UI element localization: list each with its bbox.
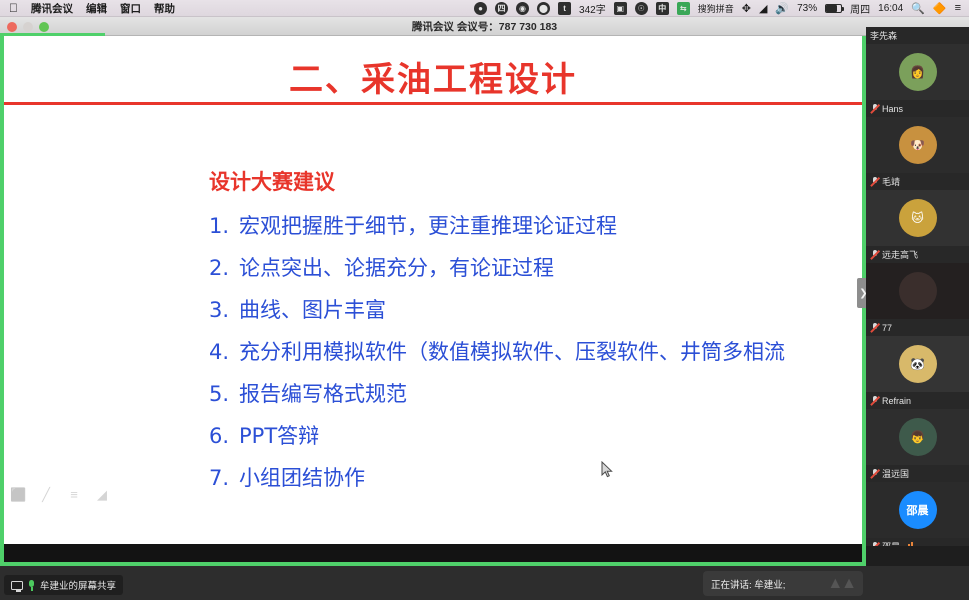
participant-video-tile[interactable]: 🐱 — [866, 190, 969, 246]
participant-name-row: 远走高飞 — [866, 246, 969, 263]
shield-icon[interactable]: ⬤ — [537, 2, 550, 15]
avatar: 🐼 — [899, 345, 937, 383]
siri-icon[interactable]: 🔶 — [933, 2, 947, 15]
avatar — [899, 272, 937, 310]
evernote-icon[interactable]: t — [558, 2, 571, 15]
pointer-tool-icon[interactable]: ⬛ — [10, 488, 26, 502]
participant-name-row: Refrain — [866, 392, 969, 409]
sogou-logo-icon[interactable]: ⇆ — [677, 2, 690, 15]
ime-label: 搜狗拼音 — [698, 2, 734, 15]
audio-waveform-icon: ▲▲ — [827, 575, 855, 593]
list-item[interactable]: 77 🐼 — [866, 319, 969, 392]
slide-bullet-3: 3.曲线、图片丰富 — [209, 294, 862, 324]
bullet-number: 7. — [209, 466, 239, 490]
share-label: 牟建业的屏幕共享 — [40, 578, 116, 592]
participant-video-tile[interactable]: 👩 — [866, 44, 969, 100]
participant-name-row: 77 — [866, 319, 969, 336]
window-title: 腾讯会议 会议号：787 730 183 — [412, 19, 557, 34]
mic-muted-icon — [870, 541, 879, 546]
slide-bullet-5: 5.报告编写格式规范 — [209, 378, 862, 408]
slide-bullet-4: 4.充分利用模拟软件（数值模拟软件、压裂软件、井筒多相流 — [209, 336, 862, 366]
wifi-icon[interactable]: ◢ — [759, 2, 767, 15]
battery-percent-label: 73% — [797, 3, 817, 14]
avatar: 邵晨 — [899, 491, 937, 529]
participant-name: 李先森 — [870, 29, 897, 42]
screen-share-status[interactable]: 牟建业的屏幕共享 — [4, 575, 123, 595]
slide-bullet-2: 2.论点突出、论据充分，有论证过程 — [209, 252, 862, 282]
mic-muted-icon — [870, 322, 879, 333]
close-button[interactable] — [7, 22, 17, 32]
bullet-text: 报告编写格式规范 — [239, 382, 407, 406]
bullet-text: 宏观把握胜于细节，更注重推理论证过程 — [239, 214, 617, 238]
bluetooth-icon[interactable]: ✥ — [742, 2, 751, 15]
list-item[interactable]: Hans 🐶 — [866, 100, 969, 173]
mic-muted-icon — [870, 176, 879, 187]
list-item[interactable]: 邵晨 S — [866, 538, 969, 546]
participant-name: 邵晨 — [882, 540, 900, 546]
mouse-pointer-icon — [601, 461, 613, 479]
maximize-button[interactable] — [39, 22, 49, 32]
minimize-button[interactable] — [23, 22, 33, 32]
bullet-text: PPT答辩 — [239, 424, 319, 448]
mic-muted-icon — [870, 395, 879, 406]
avatar: 👩 — [899, 53, 937, 91]
participant-name: 温远国 — [882, 467, 909, 480]
window-title-bar: 腾讯会议 会议号：787 730 183 — [0, 17, 969, 36]
screenshot-icon[interactable]: ▣ — [614, 2, 627, 15]
bullet-text: 曲线、图片丰富 — [239, 298, 386, 322]
participant-name: 77 — [882, 323, 892, 333]
participant-video-tile[interactable]: 👦 — [866, 409, 969, 465]
slide-title-divider — [4, 102, 862, 105]
participant-name: 毛靖 — [882, 175, 900, 188]
list-item[interactable]: 温远国 邵晨 — [866, 465, 969, 538]
slide-bullet-6: 6.PPT答辩 — [209, 420, 862, 450]
chinese-ime-icon[interactable]: 中 — [656, 2, 669, 15]
bottom-toolbar: 牟建业的屏幕共享 正在讲话: 牟建业; ▲▲ — [0, 566, 969, 600]
mic-muted-icon — [870, 249, 879, 260]
slide-subhead: 设计大赛建议 — [209, 166, 862, 196]
notification-center-icon[interactable]: ≡ — [955, 2, 961, 14]
participant-video-tile[interactable]: 🐶 — [866, 117, 969, 173]
menu-item-edit[interactable]: 编辑 — [86, 1, 107, 16]
participant-video-tile[interactable]: 🐼 — [866, 336, 969, 392]
speaking-label: 正在讲话: 牟建业; — [711, 577, 785, 591]
bullet-number: 3. — [209, 298, 239, 322]
annotation-toolbar[interactable]: ⬛ ╱ ≡ ◢ — [10, 488, 110, 502]
participant-video-tile[interactable]: 邵晨 — [866, 482, 969, 538]
mic-muted-icon — [870, 468, 879, 479]
participant-name-row: 温远国 — [866, 465, 969, 482]
avatar: 🐶 — [899, 126, 937, 164]
volume-icon[interactable]: 🔊 — [775, 2, 789, 15]
bullet-text: 论点突出、论据充分，有论证过程 — [239, 256, 554, 280]
battery-icon[interactable] — [825, 4, 842, 13]
menu-date-label: 周四 — [850, 1, 870, 16]
participant-name-row: 毛靖 — [866, 173, 969, 190]
menu-time-label: 16:04 — [878, 3, 903, 14]
list-item[interactable]: Refrain 👦 — [866, 392, 969, 465]
bullet-text: 小组团结协作 — [239, 466, 365, 490]
slide-bullet-1: 1.宏观把握胜于细节，更注重推理论证过程 — [209, 210, 862, 240]
participant-name-row: Hans — [866, 100, 969, 117]
active-speaker-banner: 正在讲话: 牟建业; ▲▲ — [703, 571, 863, 596]
list-item[interactable]: 毛靖 🐱 — [866, 173, 969, 246]
audio-level-icon — [905, 542, 913, 546]
calendar-icon[interactable]: 四 — [495, 2, 508, 15]
search-icon[interactable]: 🔍 — [911, 2, 925, 15]
participant-name-row: 李先森 — [866, 27, 969, 44]
avatar: 👦 — [899, 418, 937, 456]
avatar: 🐱 — [899, 199, 937, 237]
eraser-tool-icon[interactable]: ◢ — [94, 488, 110, 502]
text-tool-icon[interactable]: ≡ — [66, 488, 82, 502]
participant-name-row: 邵晨 — [866, 538, 969, 546]
list-item[interactable]: 李先森 👩 — [866, 27, 969, 100]
tencent-meeting-window:  腾讯会议 编辑 窗口 帮助 ● 四 ◉ ⬤ t 342字 ▣ ☉ 中 ⇆ 搜… — [0, 0, 969, 600]
list-item[interactable]: 远走高飞 — [866, 246, 969, 319]
shared-slide: 二、采油工程设计 设计大赛建议 1.宏观把握胜于细节，更注重推理论证过程 2.论… — [4, 36, 862, 544]
macos-menu-bar:  腾讯会议 编辑 窗口 帮助 ● 四 ◉ ⬤ t 342字 ▣ ☉ 中 ⇆ 搜… — [0, 0, 969, 17]
participant-name: Hans — [882, 104, 903, 114]
slide-bullet-7: 7.小组团结协作 — [209, 462, 862, 492]
mic-muted-icon — [870, 103, 879, 114]
bullet-number: 4. — [209, 340, 239, 364]
shared-content-letterbox — [4, 544, 862, 562]
menu-item-window[interactable]: 窗口 — [120, 1, 141, 16]
apple-logo-icon[interactable]:  — [9, 2, 18, 14]
menu-item-help[interactable]: 帮助 — [154, 1, 175, 16]
word-count-label: 342字 — [579, 1, 606, 16]
bullet-number: 5. — [209, 382, 239, 406]
participant-rail[interactable]: 李先森 👩 Hans 🐶 毛靖 🐱 — [866, 27, 969, 546]
slide-title: 二、采油工程设计 — [4, 52, 862, 101]
bullet-number: 6. — [209, 424, 239, 448]
bullet-text: 充分利用模拟软件（数值模拟软件、压裂软件、井筒多相流 — [239, 340, 785, 364]
bullet-number: 2. — [209, 256, 239, 280]
screen-share-icon — [11, 581, 23, 590]
dropbox-icon[interactable]: ● — [474, 2, 487, 15]
mic-status-icon[interactable]: ☉ — [635, 2, 648, 15]
participant-name: Refrain — [882, 396, 911, 406]
pen-tool-icon[interactable]: ╱ — [38, 488, 54, 502]
traffic-lights — [7, 22, 49, 32]
bullet-number: 1. — [209, 214, 239, 238]
microphone-on-icon — [28, 580, 35, 591]
participant-name: 远走高飞 — [882, 248, 918, 261]
participant-video-tile[interactable] — [866, 263, 969, 319]
menu-item-app[interactable]: 腾讯会议 — [31, 1, 73, 16]
slide-body: 设计大赛建议 1.宏观把握胜于细节，更注重推理论证过程 2.论点突出、论据充分，… — [209, 166, 862, 504]
eye-icon[interactable]: ◉ — [516, 2, 529, 15]
